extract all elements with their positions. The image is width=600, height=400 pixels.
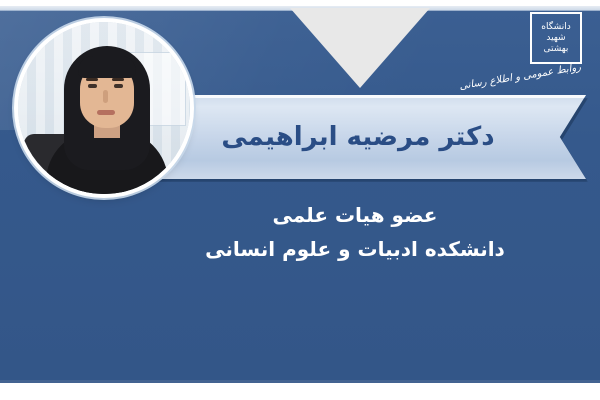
top-chevron-notch-icon — [290, 8, 430, 88]
logo-university-name: دانشگاه شهید بهشتی — [541, 22, 570, 55]
person-role-line-1: عضو هیات علمی — [150, 198, 560, 232]
logo-emblem-box: دانشگاه شهید بهشتی — [530, 12, 582, 64]
announcement-banner: دانشگاه شهید بهشتی روابط عمومی و اطلاع ر… — [0, 0, 600, 400]
portrait-eye-left — [88, 84, 97, 88]
person-name-title: دکتر مرضیه ابراهیمی — [180, 106, 536, 168]
person-role-line-2: دانشکده ادبیات و علوم انسانی — [150, 232, 560, 266]
logo-public-relations-script: روابط عمومی و اطلاع رسانی — [507, 62, 582, 84]
portrait-eyebrow-right — [112, 78, 124, 81]
portrait-avatar — [18, 22, 190, 194]
chevron-notch-fill — [290, 8, 430, 88]
portrait-eye-right — [114, 84, 123, 88]
portrait-hairline — [78, 56, 136, 78]
portrait-nose — [103, 90, 108, 103]
portrait-person — [18, 22, 190, 194]
university-logo: دانشگاه شهید بهشتی روابط عمومی و اطلاع ر… — [506, 12, 582, 98]
person-role-block: عضو هیات علمی دانشکده ادبیات و علوم انسا… — [150, 198, 560, 266]
portrait-eyebrow-left — [86, 78, 98, 81]
portrait-mouth — [97, 110, 115, 115]
